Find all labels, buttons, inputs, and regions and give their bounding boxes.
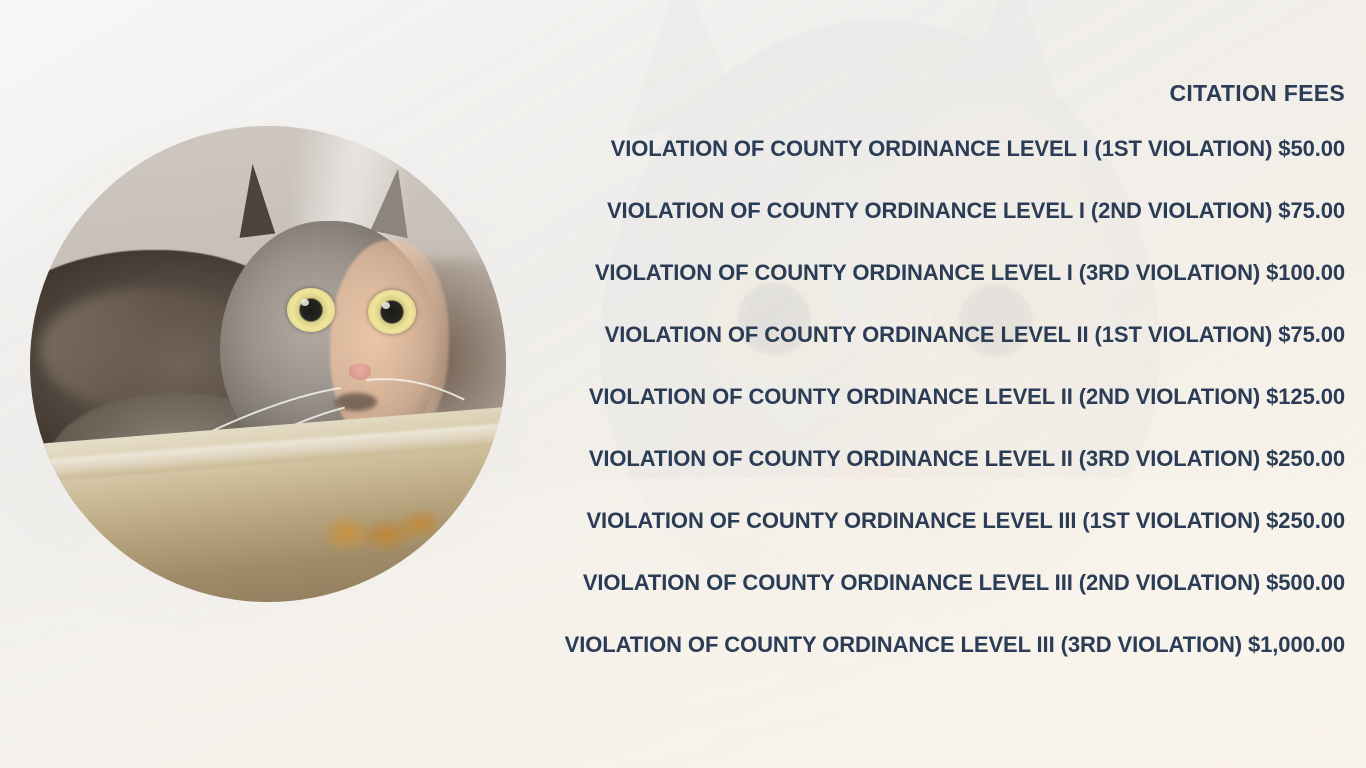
fee-row: VIOLATION OF COUNTY ORDINANCE LEVEL III …: [445, 510, 1345, 532]
fee-row: VIOLATION OF COUNTY ORDINANCE LEVEL II (…: [445, 324, 1345, 346]
fee-row: VIOLATION OF COUNTY ORDINANCE LEVEL I (3…: [445, 262, 1345, 284]
fee-row: VIOLATION OF COUNTY ORDINANCE LEVEL II (…: [445, 386, 1345, 408]
fee-row: VIOLATION OF COUNTY ORDINANCE LEVEL III …: [445, 634, 1345, 656]
fee-row: VIOLATION OF COUNTY ORDINANCE LEVEL I (2…: [445, 200, 1345, 222]
photo-cat-eye-right: [368, 290, 416, 334]
citation-fees-panel: CITATION FEES VIOLATION OF COUNTY ORDINA…: [445, 82, 1345, 656]
photo-cat-eye-glint-right: [382, 302, 390, 309]
photo-cat-eye-left: [287, 288, 335, 332]
slide-canvas: CITATION FEES VIOLATION OF COUNTY ORDINA…: [0, 0, 1366, 768]
fee-row: VIOLATION OF COUNTY ORDINANCE LEVEL I (1…: [445, 138, 1345, 160]
cat-photo-circle: [30, 126, 506, 602]
photo-cat-eye-glint-left: [301, 299, 309, 306]
fee-row: VIOLATION OF COUNTY ORDINANCE LEVEL III …: [445, 572, 1345, 594]
cat-photo-inner: [30, 126, 506, 602]
page-title: CITATION FEES: [445, 82, 1345, 105]
fee-row: VIOLATION OF COUNTY ORDINANCE LEVEL II (…: [445, 448, 1345, 470]
